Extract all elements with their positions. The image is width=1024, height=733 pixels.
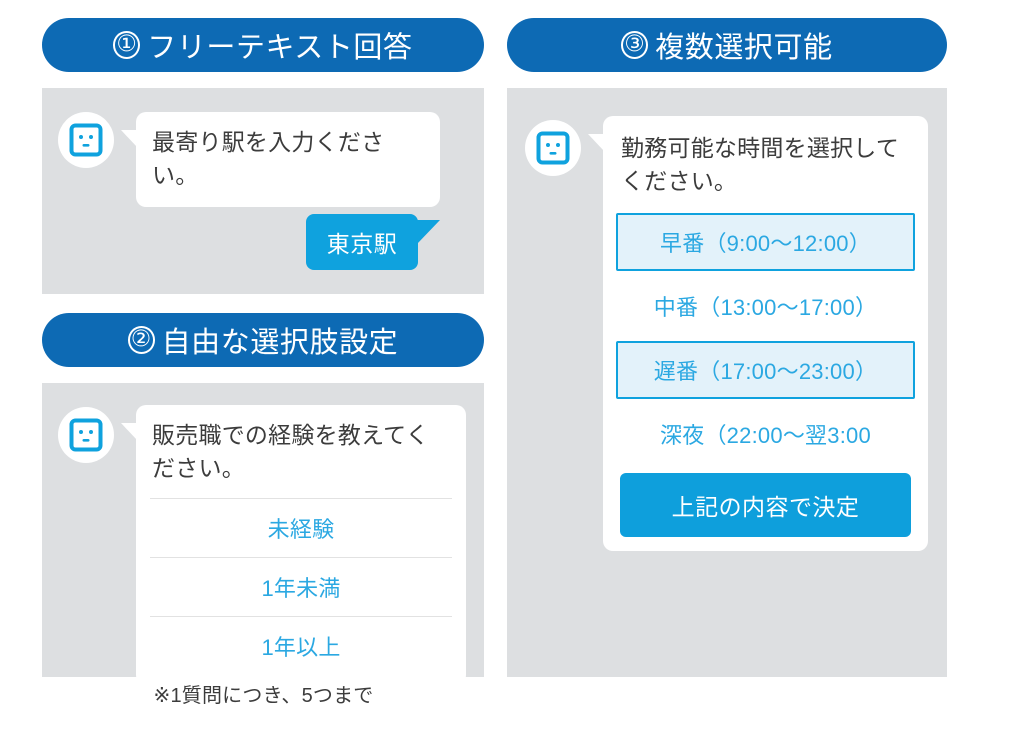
option-item-over-one-year[interactable]: 1年以上 <box>150 616 452 675</box>
submit-button-wrap: 上記の内容で決定 <box>603 463 928 537</box>
user-reply-text: 東京駅 <box>327 225 397 259</box>
section-number-1: ① <box>113 31 140 59</box>
confirm-selection-button[interactable]: 上記の内容で決定 <box>620 473 911 537</box>
section-title-2: 自由な選択肢設定 <box>162 319 399 361</box>
robot-face-icon <box>69 123 103 157</box>
bubble-tail-icon <box>417 220 440 244</box>
footnote-note: ※1質問につき、5つまで <box>0 679 527 708</box>
bot-message-text-3: 勤務可能な時間を選択してください。 <box>603 132 928 213</box>
robot-face-icon <box>69 418 103 452</box>
chat-panel-choices: 販売職での経験を教えてください。 未経験 1年未満 1年以上 <box>42 383 484 677</box>
robot-face-icon <box>536 131 570 165</box>
section-title-3: 複数選択可能 <box>655 24 832 66</box>
bot-message-text-2: 販売職での経験を教えてください。 <box>136 419 466 498</box>
bubble-tail-icon <box>588 134 604 151</box>
bot-message-text-1: 最寄り駅を入力ください。 <box>152 126 424 193</box>
section-number-3: ③ <box>621 31 648 59</box>
bot-message-card-2: 販売職での経験を教えてください。 未経験 1年未満 1年以上 <box>136 405 466 685</box>
section-header-3: ③ 複数選択可能 <box>507 18 947 72</box>
option-item-under-one-year[interactable]: 1年未満 <box>150 557 452 616</box>
option-item-early-shift[interactable]: 早番（9:00〜12:00） <box>616 213 915 271</box>
infographic-canvas: ① フリーテキスト回答 最寄り駅を入力ください。 東京駅 ② 自 <box>0 0 1024 733</box>
user-reply-bubble: 東京駅 <box>306 214 418 270</box>
section-header-2: ② 自由な選択肢設定 <box>42 313 484 367</box>
bot-avatar-2 <box>58 407 114 463</box>
section-number-2: ② <box>128 326 155 354</box>
bubble-tail-icon <box>121 423 137 440</box>
bot-message-card-1: 最寄り駅を入力ください。 <box>136 112 440 207</box>
section-title-1: フリーテキスト回答 <box>147 24 412 66</box>
section-header-1: ① フリーテキスト回答 <box>42 18 484 72</box>
chat-panel-freetext: 最寄り駅を入力ください。 東京駅 <box>42 88 484 294</box>
chat-panel-multiselect: 勤務可能な時間を選択してください。 早番（9:00〜12:00） 中番（13:0… <box>507 88 947 677</box>
option-item-mid-shift[interactable]: 中番（13:00〜17:00） <box>616 277 915 335</box>
bubble-tail-icon <box>121 130 137 147</box>
option-item-night-shift[interactable]: 深夜（22:00〜翌3:00 <box>616 405 915 463</box>
bot-message-card-3: 勤務可能な時間を選択してください。 早番（9:00〜12:00） 中番（13:0… <box>603 116 928 551</box>
option-list-3: 早番（9:00〜12:00） 中番（13:00〜17:00） 遅番（17:00〜… <box>603 213 928 463</box>
option-item-no-experience[interactable]: 未経験 <box>150 498 452 557</box>
bot-avatar-3 <box>525 120 581 176</box>
bot-avatar-1 <box>58 112 114 168</box>
option-list-2: 未経験 1年未満 1年以上 <box>136 498 466 675</box>
option-item-late-shift[interactable]: 遅番（17:00〜23:00） <box>616 341 915 399</box>
